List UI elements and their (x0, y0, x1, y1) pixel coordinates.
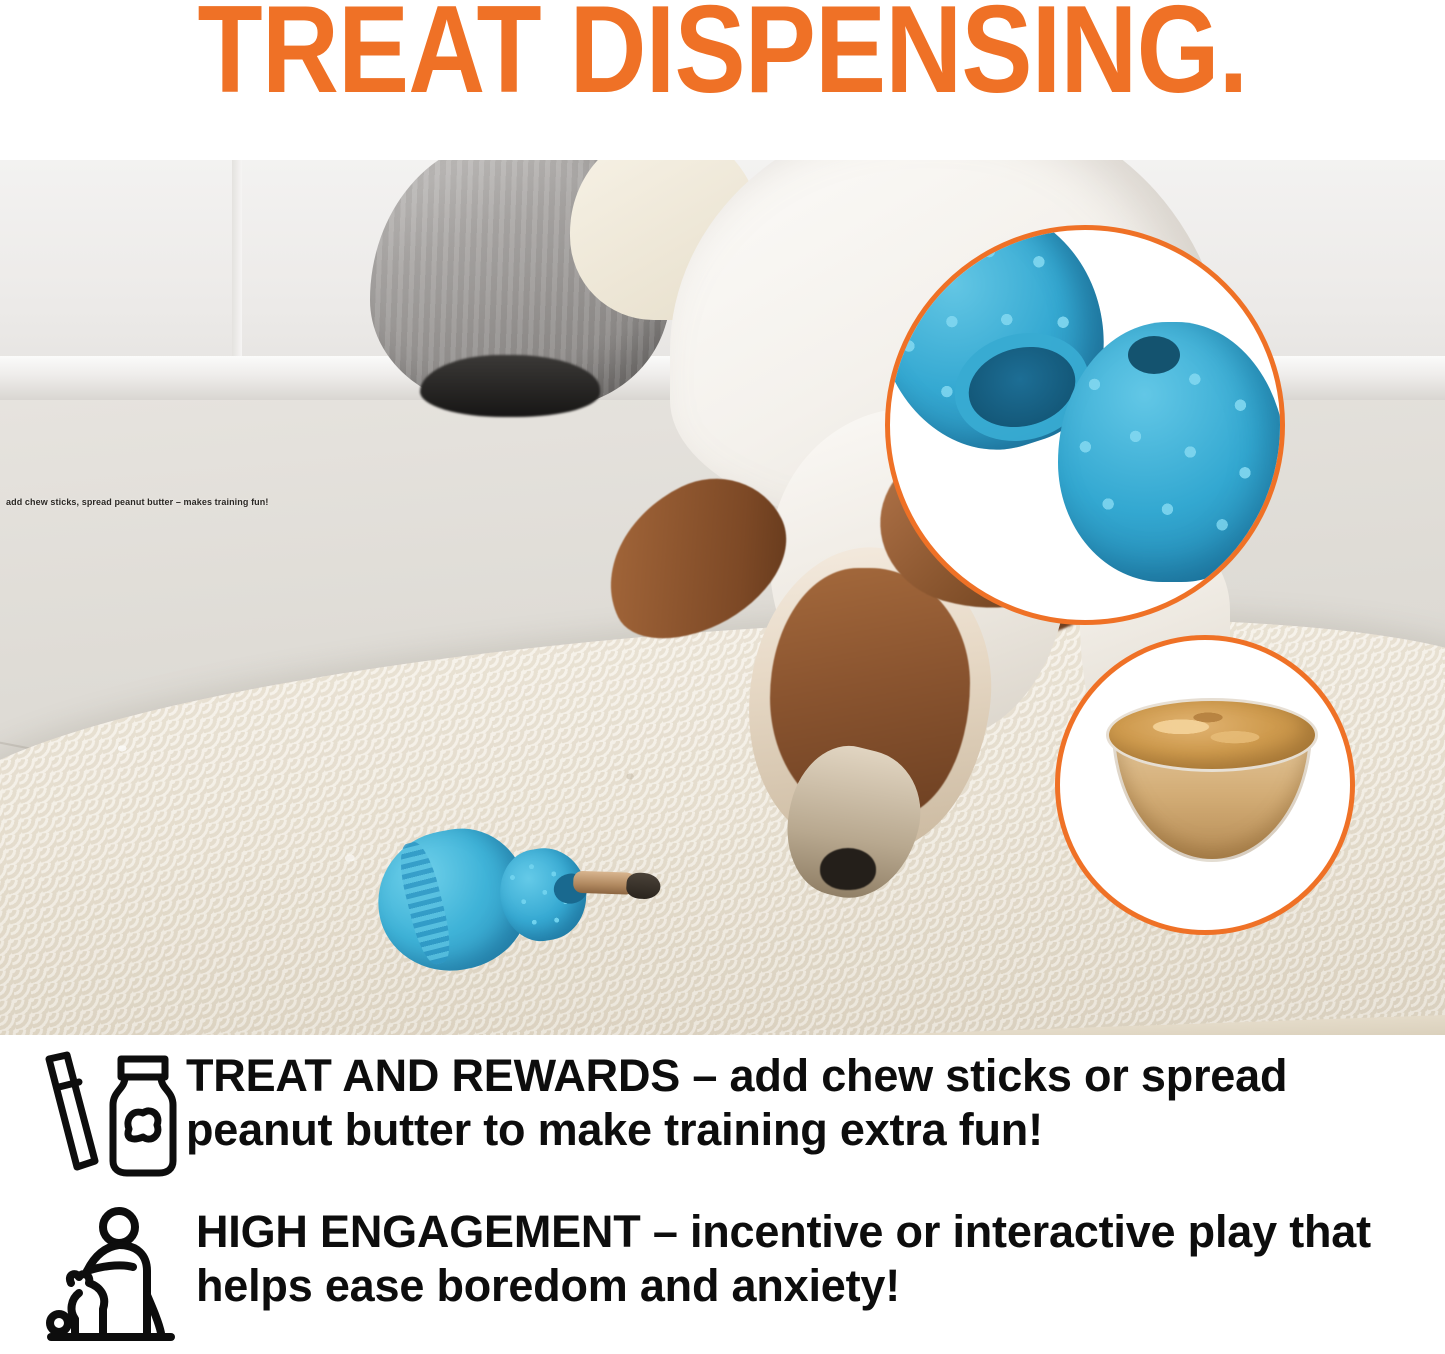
feature-text-high-engagement: HIGH ENGAGEMENT – incentive or interacti… (196, 1205, 1431, 1313)
page-title: TREAT DISPENSING. (101, 0, 1344, 112)
feature-lead: HIGH ENGAGEMENT (196, 1206, 641, 1257)
chew-stick-and-peanut-butter-jar-icon (26, 1049, 186, 1181)
feature-row-high-engagement: HIGH ENGAGEMENT – incentive or interacti… (26, 1205, 1431, 1349)
wall-corner (232, 160, 242, 370)
inset-toy-lower-opening (1128, 336, 1180, 374)
infographic-page: TREAT DISPENSING. (0, 0, 1445, 1354)
feature-row-treat-and-rewards: TREAT AND REWARDS – add chew sticks or s… (26, 1049, 1431, 1181)
feature-list: TREAT AND REWARDS – add chew sticks or s… (0, 1035, 1445, 1354)
peanut-butter-swirl (1136, 706, 1286, 758)
dog-nose (820, 848, 876, 890)
feature-text-treat-and-rewards: TREAT AND REWARDS – add chew sticks or s… (186, 1049, 1431, 1157)
person-playing-with-dog-icon (26, 1205, 196, 1349)
photo-caption: add chew sticks, spread peanut butter – … (6, 497, 268, 507)
inset-toys-closeup (885, 225, 1285, 625)
inset-peanut-butter (1055, 635, 1355, 935)
feature-lead: TREAT AND REWARDS (186, 1050, 680, 1101)
